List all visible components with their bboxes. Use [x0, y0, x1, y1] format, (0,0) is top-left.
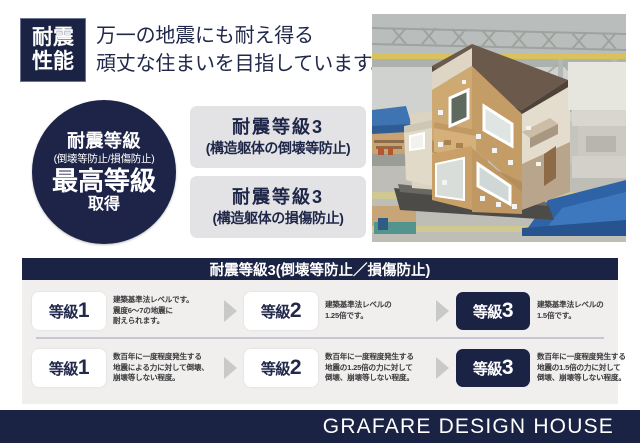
seal-line-2: (倒壊等防止/損傷防止): [54, 153, 155, 166]
grade-chip-1: 等級1: [32, 349, 106, 387]
grade-chip-3: 等級3: [456, 349, 530, 387]
grade-comparison-panel: 耐震等級3(倒壊等防止／損傷防止) 等級1 建築基準法レベルです。 震度6〜7の…: [22, 258, 618, 404]
grade-chip-label: 等級2: [261, 356, 301, 380]
grade-box-title: 耐震等級3: [232, 187, 324, 208]
grade-box-damage-prevention: 耐震等級3 (構造躯体の損傷防止): [190, 176, 366, 238]
grade-chip-label: 等級1: [49, 356, 89, 380]
brand-name: GRAFARE DESIGN HOUSE: [323, 415, 614, 439]
grade-chip-2: 等級2: [244, 349, 318, 387]
row-divider: [36, 337, 604, 339]
grade-item: 等級1 数百年に一度程度発生する 地震による力に対して倒壊、 崩壊等しない程度。: [32, 349, 217, 387]
grade-description-2: 数百年に一度程度発生する 地震の1.25倍の力に対して 倒壊、崩壊等しない程度。: [325, 352, 429, 384]
grade-row-collapse: 等級1 建築基準法レベルです。 震度6〜7の地震に 耐えられます。 等級2 建築…: [22, 286, 618, 336]
grade-description-3: 数百年に一度程度発生する 地震の1.5倍の力に対して 倒壊、崩壊等しない程度。: [537, 352, 640, 384]
page-title: 万一の地震にも耐え得る 頑丈な住まいを目指しています。: [96, 22, 372, 79]
arrow-right-icon: [436, 357, 449, 379]
grade-chip-3: 等級3: [456, 292, 530, 330]
grade-description-1: 建築基準法レベルです。 震度6〜7の地震に 耐えられます。: [113, 295, 217, 327]
panel-body: 等級1 建築基準法レベルです。 震度6〜7の地震に 耐えられます。 等級2 建築…: [22, 286, 618, 393]
grade-chip-2: 等級2: [244, 292, 318, 330]
grade-item: 等級2 建築基準法レベルの 1.25倍です。: [244, 292, 429, 330]
earthquake-resistance-infographic: 耐震 性能 万一の地震にも耐え得る 頑丈な住まいを目指しています。: [0, 0, 640, 443]
test-house-photo: [372, 14, 626, 242]
seal-line-4: 取得: [88, 196, 120, 214]
grade-description-3: 建築基準法レベルの 1.5倍です。: [537, 300, 640, 322]
seal-line-1: 耐震等級: [67, 131, 141, 152]
grade-chip-label: 等級2: [261, 299, 301, 323]
grade-chip-label: 等級3: [473, 299, 513, 323]
arrow-right-icon: [224, 357, 237, 379]
grade-item: 等級2 数百年に一度程度発生する 地震の1.25倍の力に対して 倒壊、崩壊等しな…: [244, 349, 429, 387]
grade-box-subtitle: (構造躯体の倒壊等防止): [206, 140, 351, 157]
arrow-right-icon: [436, 300, 449, 322]
grade-box-collapse-prevention: 耐震等級3 (構造躯体の倒壊等防止): [190, 106, 366, 168]
top-grade-seal: 耐震等級 (倒壊等防止/損傷防止) 最高等級 取得: [32, 100, 176, 244]
panel-heading: 耐震等級3(倒壊等防止／損傷防止): [22, 258, 618, 280]
grade-row-damage: 等級1 数百年に一度程度発生する 地震による力に対して倒壊、 崩壊等しない程度。…: [22, 343, 618, 393]
tagline-line-2: 頑丈な住まいを目指しています。: [96, 50, 372, 78]
seal-line-3: 最高等級: [52, 167, 156, 196]
section-badge-line2: 性能: [32, 50, 74, 74]
footer-bar: GRAFARE DESIGN HOUSE: [0, 410, 640, 443]
grade-chip-1: 等級1: [32, 292, 106, 330]
grade-description-1: 数百年に一度程度発生する 地震による力に対して倒壊、 崩壊等しない程度。: [113, 352, 217, 384]
grade-description-2: 建築基準法レベルの 1.25倍です。: [325, 300, 429, 322]
tagline-line-1: 万一の地震にも耐え得る: [96, 22, 372, 50]
arrow-right-icon: [224, 300, 237, 322]
grade-box-title: 耐震等級3: [232, 117, 324, 138]
grade-item: 等級3 建築基準法レベルの 1.5倍です。: [456, 292, 640, 330]
grade-item: 等級3 数百年に一度程度発生する 地震の1.5倍の力に対して 倒壊、崩壊等しない…: [456, 349, 640, 387]
grade-chip-label: 等級3: [473, 356, 513, 380]
section-badge: 耐震 性能: [20, 18, 86, 82]
grade-box-subtitle: (構造躯体の損傷防止): [213, 210, 344, 227]
grade-item: 等級1 建築基準法レベルです。 震度6〜7の地震に 耐えられます。: [32, 292, 217, 330]
test-house-illustration: [372, 14, 626, 242]
section-badge-line1: 耐震: [32, 26, 74, 50]
grade-chip-label: 等級1: [49, 299, 89, 323]
